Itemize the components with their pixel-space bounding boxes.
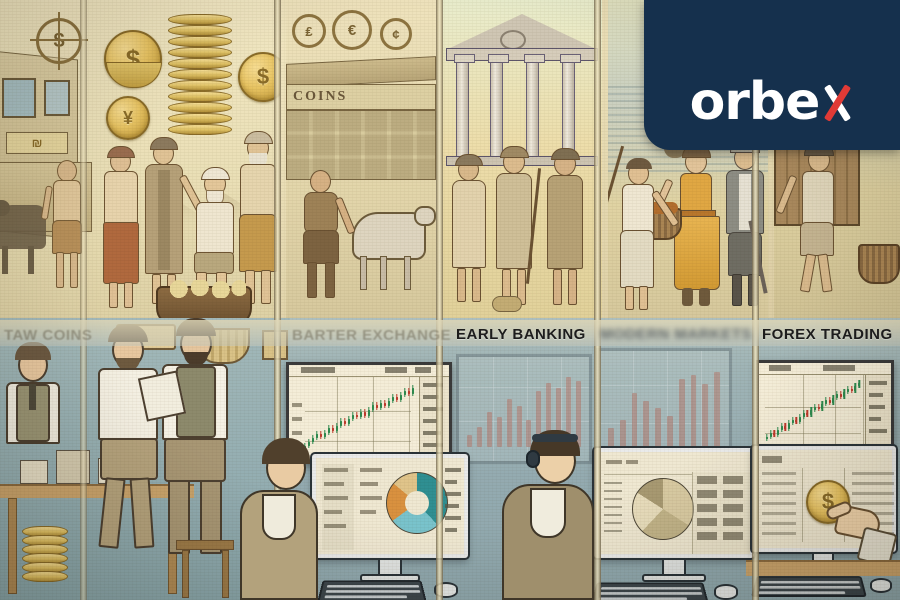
candlestick <box>843 389 845 398</box>
candlestick <box>803 410 805 419</box>
bar <box>620 420 626 447</box>
barter-group-scene: $ ¥ $ <box>84 0 280 330</box>
candlestick <box>825 397 827 406</box>
bar <box>655 408 661 447</box>
toga-buyer-figure <box>612 162 660 312</box>
candlestick <box>404 388 406 396</box>
candlestick <box>821 401 823 411</box>
candlestick <box>328 425 330 435</box>
bar <box>691 375 697 447</box>
candlestick <box>408 388 410 395</box>
candlestick <box>380 400 382 410</box>
candlestick <box>777 427 779 437</box>
bar <box>679 379 685 447</box>
touch-monitor[interactable]: $ <box>752 446 900 600</box>
basket-icon <box>858 244 900 284</box>
candlestick <box>320 431 322 438</box>
modern-band: $ <box>0 318 900 600</box>
trader-monitor-1[interactable] <box>300 454 480 600</box>
candlestick <box>788 420 790 430</box>
bar <box>702 384 708 447</box>
candlestick <box>392 394 394 402</box>
candlestick <box>384 400 386 408</box>
candlestick <box>364 409 366 417</box>
keyboard-3[interactable] <box>751 576 867 597</box>
candlestick <box>324 430 326 438</box>
candlestick <box>400 392 402 402</box>
sword-merchant-figure <box>720 146 768 316</box>
bar <box>632 393 638 447</box>
candlestick <box>412 385 414 396</box>
candlestick <box>818 404 820 412</box>
candlestick <box>829 397 831 405</box>
panel-3-scene <box>442 0 602 330</box>
candlestick <box>814 404 816 413</box>
goods-bundle <box>492 296 522 312</box>
bar <box>467 435 472 447</box>
monitor-2-screen[interactable] <box>594 448 754 558</box>
orbex-x-icon <box>820 79 854 125</box>
bar <box>608 428 614 447</box>
candlestick <box>388 398 390 409</box>
mouse-2[interactable] <box>714 584 738 600</box>
candlestick <box>795 417 797 424</box>
candlestick <box>360 409 362 419</box>
panel-2-scene: ₤ € ¢ COINS <box>286 0 436 330</box>
bar <box>643 401 649 447</box>
pie-chart <box>632 478 694 540</box>
candlestick <box>396 394 398 401</box>
bar <box>714 372 720 447</box>
candlestick <box>810 407 812 416</box>
candlestick <box>312 435 314 445</box>
candlestick <box>847 386 849 395</box>
banker-figure-2 <box>490 150 538 310</box>
candlestick <box>352 412 354 422</box>
gold-coin-small: ¥ <box>106 96 150 140</box>
trader-monitor-2[interactable] <box>584 448 764 600</box>
bar <box>477 427 482 448</box>
orbex-logo[interactable]: orbe <box>644 0 900 150</box>
candlestick <box>781 423 783 432</box>
label-panel-3: EARLY BANKING <box>456 326 586 343</box>
bar <box>487 412 492 447</box>
candlestick <box>344 418 346 425</box>
modern-trader-2-headset <box>496 438 600 600</box>
banker-figure-1 <box>446 158 492 308</box>
chart-screen-panel-4[interactable] <box>756 360 894 452</box>
candlestick <box>773 430 775 437</box>
victorian-trader-1 <box>2 348 68 498</box>
candlestick <box>316 431 318 439</box>
monitor-1-screen[interactable] <box>312 454 468 558</box>
candlestick <box>766 434 768 442</box>
modern-trader-1 <box>232 446 324 600</box>
label-middle-blurred: MODERN MARKETS <box>600 326 752 343</box>
herder-figure <box>296 170 348 300</box>
stool <box>176 540 234 550</box>
panel-divider-2 <box>436 0 443 600</box>
candlestick <box>348 416 350 426</box>
candlestick <box>340 418 342 428</box>
coin-stack-icon <box>168 14 232 144</box>
headset-icon <box>526 450 540 468</box>
bar <box>667 416 673 447</box>
candlestick <box>832 395 834 405</box>
candlestick <box>854 383 856 393</box>
shop-sign-coins: COINS <box>286 84 436 110</box>
orbex-wordmark: orbe <box>690 76 820 128</box>
candlestick <box>770 430 772 439</box>
candlestick <box>332 425 334 432</box>
label-panel-2: BARTER EXCHANGE <box>292 327 451 344</box>
desk-right <box>746 560 900 576</box>
label-panel-4: FOREX TRADING <box>762 326 893 343</box>
robed-figure-1 <box>98 150 144 310</box>
news-column <box>762 472 796 542</box>
candlestick <box>356 412 358 419</box>
panel-divider-0 <box>80 0 87 600</box>
orbex-logo-text: orbe <box>690 76 855 128</box>
illustration-canvas: ₪ $ $ ¥ <box>0 0 900 600</box>
banker-figure-3 <box>540 152 590 310</box>
candlestick <box>858 380 860 388</box>
walking-worker-figure <box>792 148 844 306</box>
coin-icon-a: ₤ <box>292 14 326 48</box>
candlestick <box>840 391 842 399</box>
chart-screen-panel-3b[interactable] <box>596 348 732 464</box>
mouse-3[interactable] <box>870 578 892 593</box>
candlestick <box>836 391 838 400</box>
keyboard-1[interactable] <box>317 580 427 600</box>
candlestick <box>376 402 378 409</box>
keyboard-2[interactable] <box>591 582 709 600</box>
coin-stack-desk <box>22 526 68 582</box>
candlestick <box>336 423 338 433</box>
candlestick <box>368 407 370 418</box>
candlestick <box>799 414 801 423</box>
label-panel-1: TAW COINS <box>4 327 92 344</box>
candlestick <box>372 402 374 412</box>
candlestick <box>784 423 786 431</box>
candlestick <box>792 417 794 426</box>
candlestick <box>851 386 853 394</box>
coin-icon-b: € <box>332 10 372 50</box>
candlestick <box>806 410 808 417</box>
coin-icon-c: ¢ <box>380 18 412 50</box>
